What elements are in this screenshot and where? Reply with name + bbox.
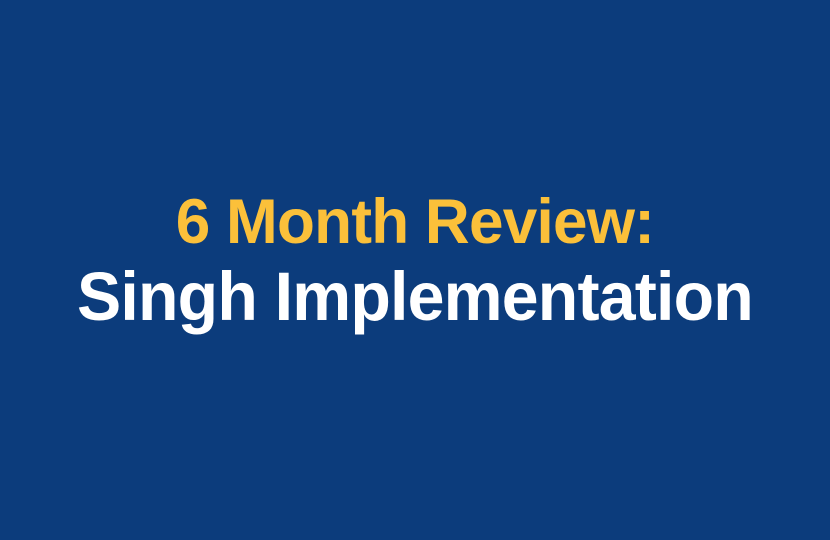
title-line-primary: 6 Month Review: <box>6 186 824 258</box>
page-title: 6 Month Review: Singh Implementation <box>0 186 830 336</box>
title-slide: 6 Month Review: Singh Implementation <box>0 0 830 540</box>
title-line-secondary: Singh Implementation <box>17 258 814 336</box>
